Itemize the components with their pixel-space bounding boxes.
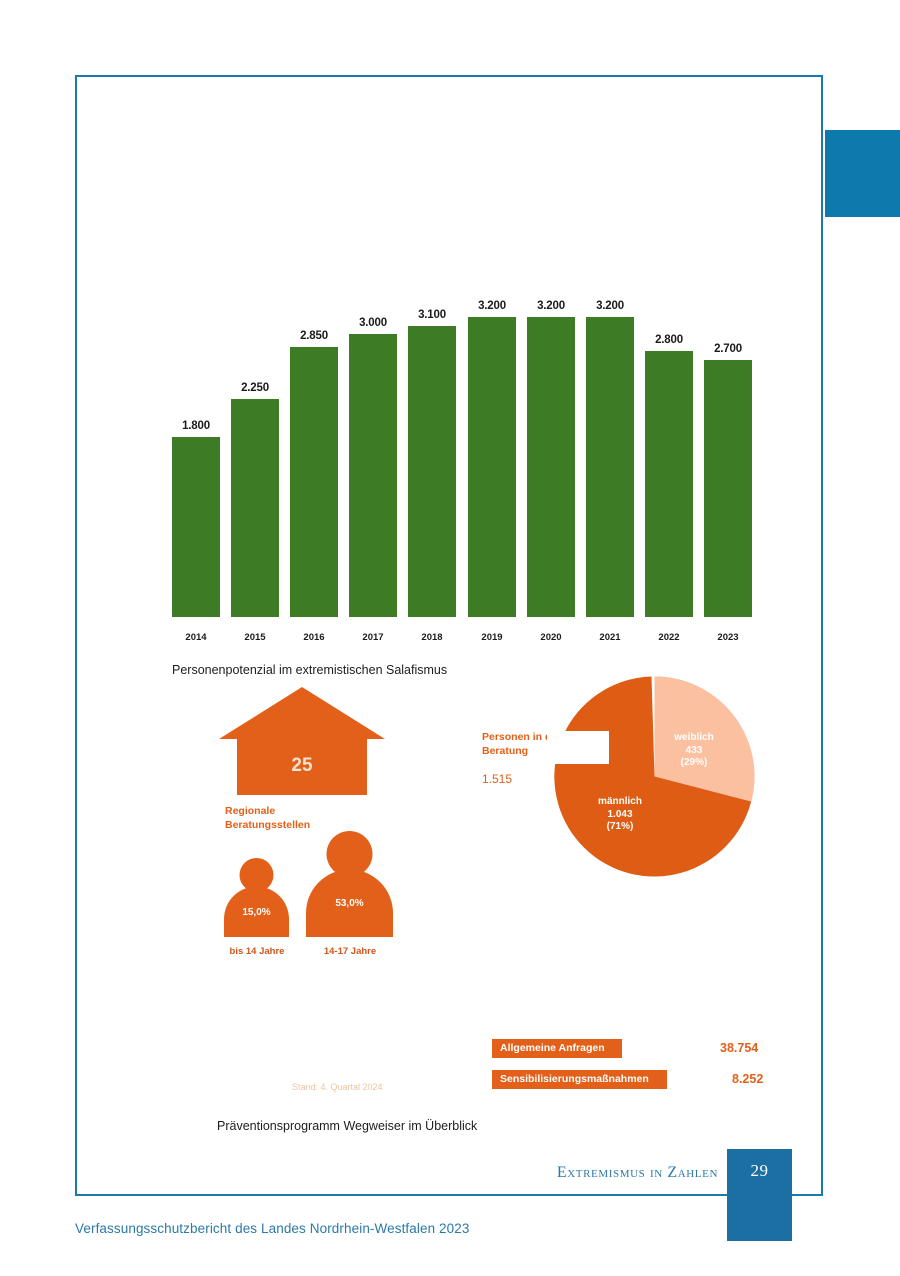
bar-value-label-2015: 2.250 [223,382,287,394]
pie-callout-notch [547,731,609,764]
person-14-17-percent: 53,0% [302,898,397,909]
bar-column: 3.200 [527,247,575,617]
bar-2023 [704,360,752,617]
bar-category-label-2022: 2022 [641,632,697,643]
bar-value-label-2018: 3.100 [400,309,464,321]
general-inquiries-bar-label: Allgemeine Anfragen [492,1039,622,1058]
regional-offices-stat: 25 Regionale Beratungsstellen [217,682,387,807]
awareness-measures-bar-label: Sensibilisierungsmaßnahmen [492,1070,667,1089]
bar-value-label-2023: 2.700 [696,343,760,355]
page-number: 29 [727,1161,792,1181]
awareness-measures-value: 8.252 [732,1070,763,1089]
bar-category-label-2014: 2014 [168,632,224,643]
bar-chart: 1.8002.2502.8503.0003.1003.2003.2003.200… [172,222,752,647]
page-number-block: 29 [727,1149,792,1241]
bar-category-label-2021: 2021 [582,632,638,643]
bar-column: 3.100 [408,247,456,617]
regional-offices-count: 25 [217,755,387,777]
bar-value-label-2021: 3.200 [578,300,642,312]
bar-value-label-2020: 3.200 [519,300,583,312]
bar-column: 2.850 [290,247,338,617]
bar-category-label-2018: 2018 [404,632,460,643]
pie-slice-label-female: weiblich 433 (29%) [656,732,732,770]
page-frame: 1.8002.2502.8503.0003.1003.2003.2003.200… [75,75,823,1196]
pie-female-name: weiblich [656,732,732,745]
person-14-17-label: 14-17 Jahre [295,946,405,957]
bar-2015 [231,399,279,617]
person-icon [302,830,397,937]
regional-offices-label-line2: Beratungsstellen [225,818,310,832]
bar-category-label-2016: 2016 [286,632,342,643]
person-under-14-percent: 15,0% [219,907,294,918]
person-icon [219,857,294,937]
bar-category-label-2019: 2019 [464,632,520,643]
bar-category-label-2015: 2015 [227,632,283,643]
bar-category-label-2023: 2023 [700,632,756,643]
person-stat-14-17: 53,0% 14-17 Jahre [302,830,397,942]
decorative-accent-square [825,130,900,217]
bar-column: 2.800 [645,247,693,617]
bar-2022 [645,351,693,617]
bar-value-label-2022: 2.800 [637,334,701,346]
pie-male-name: männlich [580,796,660,809]
bar-column: 3.000 [349,247,397,617]
running-head: Extremismus in Zahlen [557,1164,718,1182]
pie-female-value: 433 [656,745,732,758]
pie-male-percent: (71%) [580,821,660,834]
bar-2017 [349,334,397,617]
bar-value-label-2016: 2.850 [282,330,346,342]
bar-2020 [527,317,575,617]
person-stat-under-14: 15,0% bis 14 Jahre [219,857,294,942]
bar-column: 3.200 [586,247,634,617]
bar-2021 [586,317,634,617]
pie-female-percent: (29%) [656,757,732,770]
bar-value-label-2014: 1.800 [164,420,228,432]
document-footer-note: Verfassungsschutzbericht des Landes Nord… [75,1221,469,1236]
bar-chart-caption: Personenpotenzial im extremistischen Sal… [172,663,447,677]
bar-2016 [290,347,338,617]
infographic-caption: Präventionsprogramm Wegweiser im Überbli… [217,1119,477,1133]
bar-value-label-2017: 3.000 [341,317,405,329]
data-status-note: Stand: 4. Quartal 2024 [292,1082,383,1092]
bar-column: 2.700 [704,247,752,617]
bar-2019 [468,317,516,617]
pie-chart-graphic [552,674,757,879]
regional-offices-label: Regionale Beratungsstellen [225,804,310,832]
pie-slice-label-male: männlich 1.043 (71%) [580,796,660,834]
bar-2018 [408,326,456,617]
general-inquiries-value: 38.754 [720,1039,758,1058]
bar-value-label-2019: 3.200 [460,300,524,312]
house-icon [217,682,387,802]
bar-2014 [172,437,220,617]
bar-column: 1.800 [172,247,220,617]
gender-pie-chart: weiblich 433 (29%) männlich 1.043 (71%) [552,674,762,889]
bar-column: 2.250 [231,247,279,617]
bar-chart-plot-area: 1.8002.2502.8503.0003.1003.2003.2003.200… [172,247,752,617]
bar-category-label-2020: 2020 [523,632,579,643]
bar-category-label-2017: 2017 [345,632,401,643]
prevention-infographic: 25 Regionale Beratungsstellen 15,0% bis … [197,682,807,1032]
regional-offices-label-line1: Regionale [225,804,310,818]
pie-male-value: 1.043 [580,809,660,822]
bar-column: 3.200 [468,247,516,617]
